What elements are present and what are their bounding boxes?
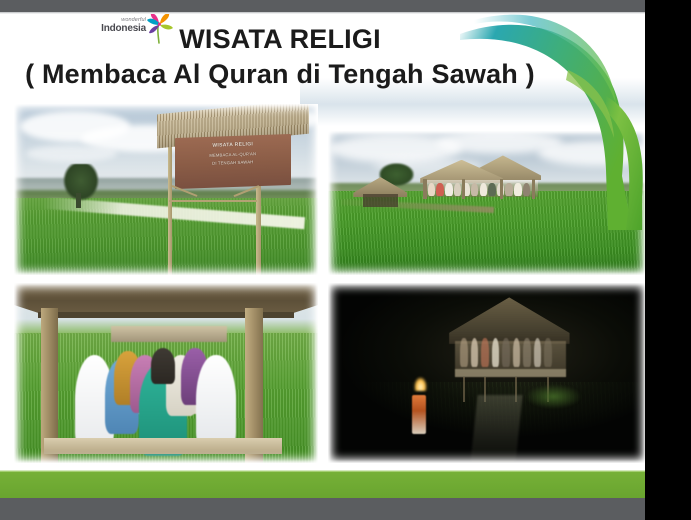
slide-top-bar-edge	[0, 12, 646, 14]
logo-word-indonesia: Indonesia	[88, 24, 146, 35]
wonderful-indonesia-logo: wonderful Indonesia	[88, 12, 174, 52]
slide-footer-green-bar	[0, 472, 646, 498]
sign-line-1: WISATA RELIGI	[212, 142, 253, 149]
photo-signboard-paddy: WISATA RELIGI MEMBACA AL-QUR'AN DI TENGA…	[14, 104, 318, 275]
slide-top-bar	[0, 0, 646, 12]
photo-gazebos-field	[328, 131, 646, 275]
slide-canvas: WISATA RELIGI ( Membaca Al Quran di Teng…	[0, 0, 646, 520]
wonderful-indonesia-mark-icon	[146, 12, 174, 44]
slide-title-secondary: ( Membaca Al Quran di Tengah Sawah )	[0, 56, 560, 92]
slide-title-primary: WISATA RELIGI	[0, 22, 560, 56]
logo-wordmark: wonderful Indonesia	[88, 18, 146, 34]
slide-title-block: WISATA RELIGI ( Membaca Al Quran di Teng…	[0, 22, 560, 92]
sign-line-2: MEMBACA AL-QUR'AN	[209, 152, 256, 159]
photo-night-gazebo-torch	[328, 283, 646, 463]
viewer-right-gutter	[645, 0, 691, 520]
sign-line-3: DI TENGAH SAWAH	[212, 160, 253, 166]
sign-text: WISATA RELIGI MEMBACA AL-QUR'AN DI TENGA…	[175, 140, 291, 170]
photo-women-praying-gazebo	[14, 283, 318, 463]
slide-footer-gray-bar	[0, 498, 646, 520]
presentation-screen: WISATA RELIGI ( Membaca Al Quran di Teng…	[0, 0, 691, 520]
